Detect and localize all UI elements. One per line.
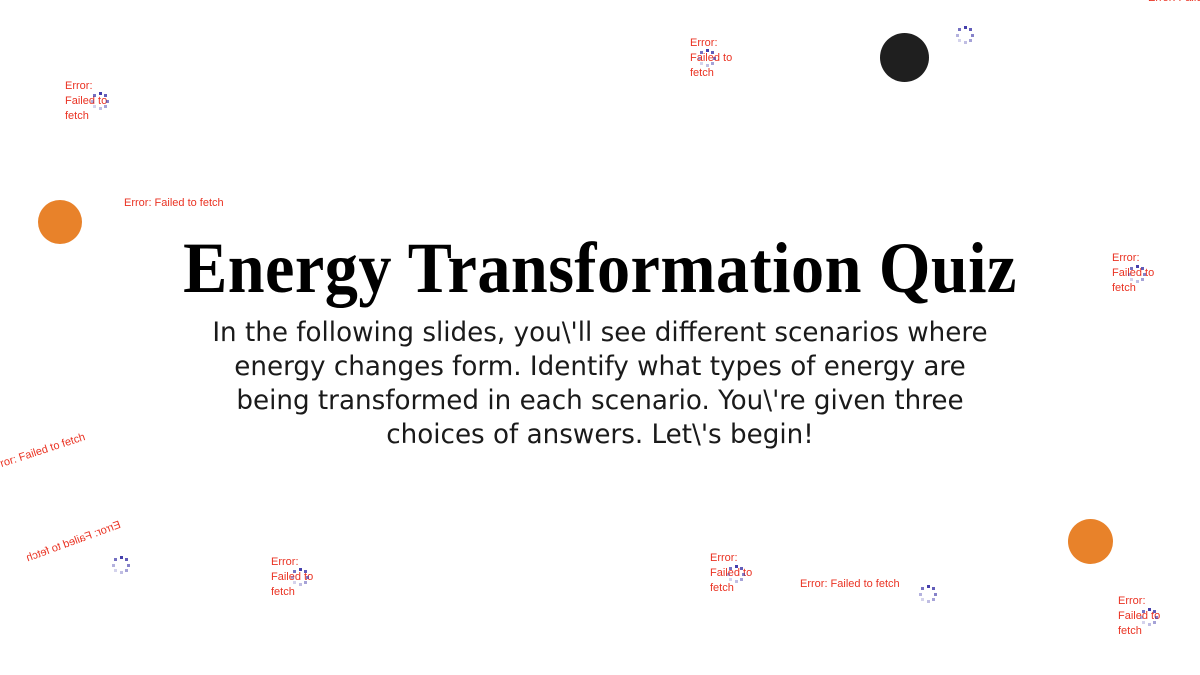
loading-spinner-rotated-area (112, 556, 130, 574)
clipped-error-top-right: Error: Failed to fetch (1148, 0, 1200, 6)
error-placeholder-bottom-left: Error: Failed to fetch (271, 555, 329, 600)
error-placeholder-top-center: Error: Failed to fetch (690, 36, 748, 81)
error-placeholder-top-left: Error: Failed to fetch (65, 79, 123, 124)
error-placeholder-bottom-mid: Error: Failed to fetch (800, 577, 900, 592)
error-placeholder-bottom-right: Error: Failed to fetch (1118, 594, 1176, 639)
black-circle-top (880, 33, 929, 82)
orange-circle-bottom-right (1068, 519, 1113, 564)
page-title: Energy Transformation Quiz (48, 232, 1152, 304)
error-placeholder-rotated: Error: Failed to fetch (24, 518, 123, 566)
slide-description: In the following slides, you\'ll see dif… (212, 316, 988, 452)
slide-content: Energy Transformation Quiz In the follow… (0, 232, 1200, 452)
error-placeholder-mid-left: Error: Failed to fetch (124, 196, 224, 211)
loading-spinner-bottom-mid (919, 585, 937, 603)
error-placeholder-bottom-center: Error: Failed to fetch (710, 551, 768, 596)
presentation-slide: Error: Failed to fetch Error: Failed to … (0, 0, 1200, 675)
loading-spinner-top-right (956, 26, 974, 44)
